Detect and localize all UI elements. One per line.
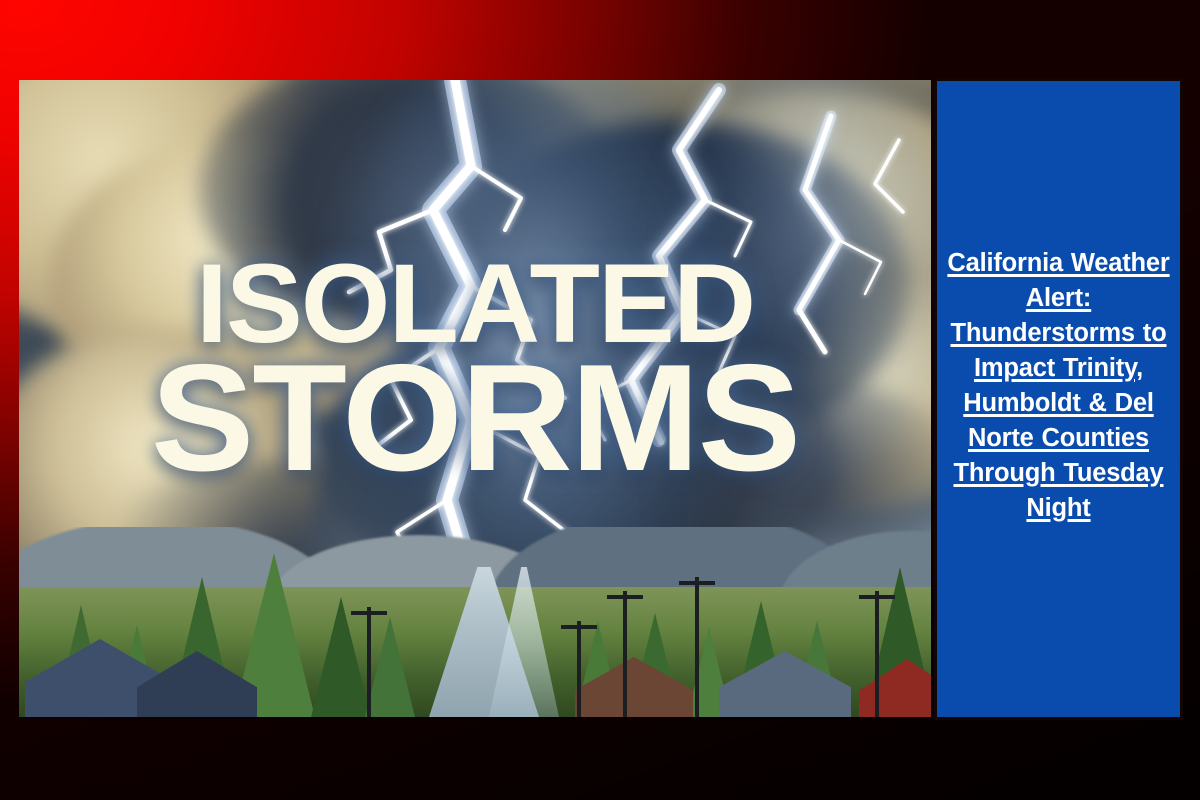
- house: [137, 651, 257, 717]
- roof: [859, 659, 931, 717]
- featured-image: ISOLATED STORMS: [19, 80, 931, 717]
- article-headline[interactable]: California Weather Alert: Thunderstorms …: [937, 246, 1180, 525]
- town-landscape: [19, 527, 931, 717]
- utility-pole: [577, 621, 581, 717]
- house: [859, 659, 931, 717]
- house: [575, 657, 693, 717]
- roof: [719, 651, 851, 717]
- image-overlay-text: ISOLATED STORMS: [19, 252, 931, 489]
- poster-canvas: ISOLATED STORMS California Weather Alert…: [0, 0, 1200, 800]
- utility-pole: [875, 591, 879, 717]
- roof: [137, 651, 257, 717]
- utility-pole: [623, 591, 627, 717]
- overlay-line-2: STORMS: [19, 349, 931, 489]
- utility-pole: [695, 577, 699, 717]
- utility-pole: [367, 607, 371, 717]
- roof: [575, 657, 693, 717]
- house: [719, 651, 851, 717]
- headline-panel: California Weather Alert: Thunderstorms …: [937, 81, 1180, 717]
